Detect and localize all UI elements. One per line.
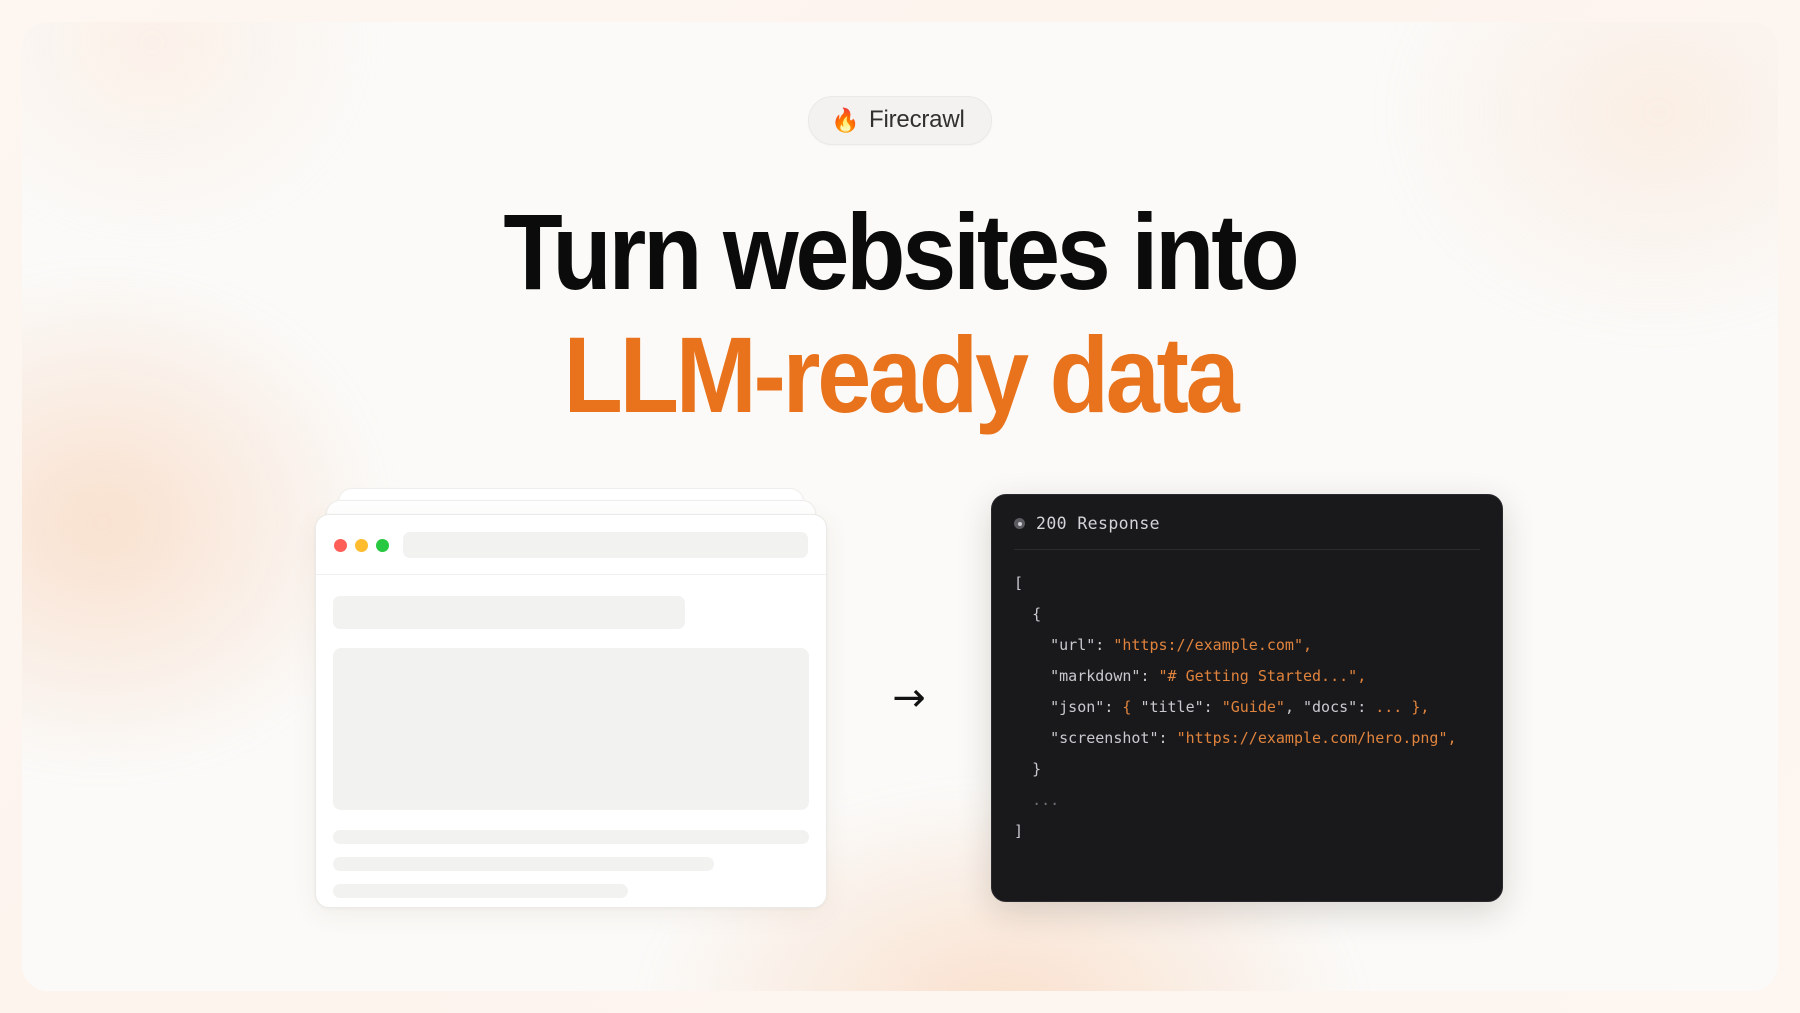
code-line: }	[1014, 754, 1480, 785]
code-token: "title"	[1140, 698, 1203, 716]
code-token: ]	[1014, 822, 1023, 840]
badge-row: 🔥 Firecrawl	[22, 96, 1778, 145]
hero-stage: 🔥 Firecrawl Turn websites into LLM-ready…	[22, 22, 1778, 991]
code-token: "https://example.com"	[1113, 636, 1303, 654]
close-window-dot[interactable]	[334, 539, 347, 552]
code-line: ...	[1014, 785, 1480, 816]
code-token: "url"	[1050, 636, 1095, 654]
skeleton-text-line-1	[333, 830, 809, 844]
arrow-right-icon: →	[827, 678, 991, 718]
code-line: "json": { "title": "Guide", "docs": ... …	[1014, 692, 1480, 723]
skeleton-title-block	[333, 596, 685, 629]
code-indent	[1014, 729, 1050, 747]
browser-window	[315, 514, 827, 908]
skeleton-text-line-3	[333, 884, 628, 898]
page-frame: 🔥 Firecrawl Turn websites into LLM-ready…	[0, 0, 1800, 1013]
code-token: {	[1122, 698, 1140, 716]
code-line: "screenshot": "https://example.com/hero.…	[1014, 723, 1480, 754]
page-title: Turn websites into LLM-ready data	[110, 190, 1690, 436]
code-line: "url": "https://example.com",	[1014, 630, 1480, 661]
browser-mockup	[315, 488, 827, 908]
status-dot-icon	[1014, 518, 1025, 529]
code-line: "markdown": "# Getting Started...",	[1014, 661, 1480, 692]
code-token: "# Getting Started..."	[1159, 667, 1358, 685]
code-token: {	[1032, 605, 1041, 623]
code-token: :	[1204, 698, 1222, 716]
code-token: "https://example.com/hero.png"	[1177, 729, 1448, 747]
maximize-window-dot[interactable]	[376, 539, 389, 552]
code-token: "Guide"	[1222, 698, 1285, 716]
browser-titlebar	[316, 515, 826, 575]
code-indent	[1014, 667, 1050, 685]
code-token: "markdown"	[1050, 667, 1140, 685]
code-token: :	[1357, 698, 1375, 716]
code-line: ]	[1014, 816, 1480, 847]
skeleton-text-line-2	[333, 857, 714, 871]
code-line: {	[1014, 599, 1480, 630]
traffic-lights	[334, 539, 389, 552]
brand-badge-label: Firecrawl	[869, 106, 965, 134]
status-badge: 200 Response	[1036, 514, 1160, 533]
code-token: :	[1140, 667, 1158, 685]
code-token: ...	[1032, 791, 1059, 809]
skeleton-hero-block	[333, 648, 809, 810]
response-status-header: 200 Response	[992, 495, 1502, 549]
minimize-window-dot[interactable]	[355, 539, 368, 552]
code-token: ,	[1303, 636, 1312, 654]
code-token: ,	[1448, 729, 1457, 747]
code-token: ...	[1375, 698, 1411, 716]
code-indent	[1014, 698, 1050, 716]
code-token: [	[1014, 574, 1023, 592]
code-token: ,	[1357, 667, 1366, 685]
code-token: }	[1032, 760, 1041, 778]
code-token: :	[1095, 636, 1113, 654]
code-indent	[1014, 760, 1032, 778]
brand-badge[interactable]: 🔥 Firecrawl	[808, 96, 991, 145]
json-code-block: [ { "url": "https://example.com", "markd…	[992, 550, 1502, 865]
code-token: "json"	[1050, 698, 1104, 716]
headline-line-1: Turn websites into	[110, 190, 1690, 313]
hero-content: 🔥 Firecrawl Turn websites into LLM-ready…	[22, 22, 1778, 991]
code-indent	[1014, 791, 1032, 809]
showcase-row: → 200 Response [ { "url": "https://examp…	[22, 488, 1778, 908]
code-line: [	[1014, 568, 1480, 599]
headline-line-2: LLM-ready data	[110, 313, 1690, 436]
code-token: "docs"	[1303, 698, 1357, 716]
browser-viewport	[316, 575, 826, 898]
code-token: ,	[1420, 698, 1429, 716]
code-token: ,	[1285, 698, 1303, 716]
code-indent	[1014, 605, 1032, 623]
response-code-panel: 200 Response [ { "url": "https://example…	[991, 494, 1503, 902]
url-bar[interactable]	[403, 532, 808, 558]
code-token: :	[1104, 698, 1122, 716]
code-token: :	[1159, 729, 1177, 747]
code-token: "screenshot"	[1050, 729, 1158, 747]
flame-icon: 🔥	[831, 109, 860, 132]
code-indent	[1014, 636, 1050, 654]
